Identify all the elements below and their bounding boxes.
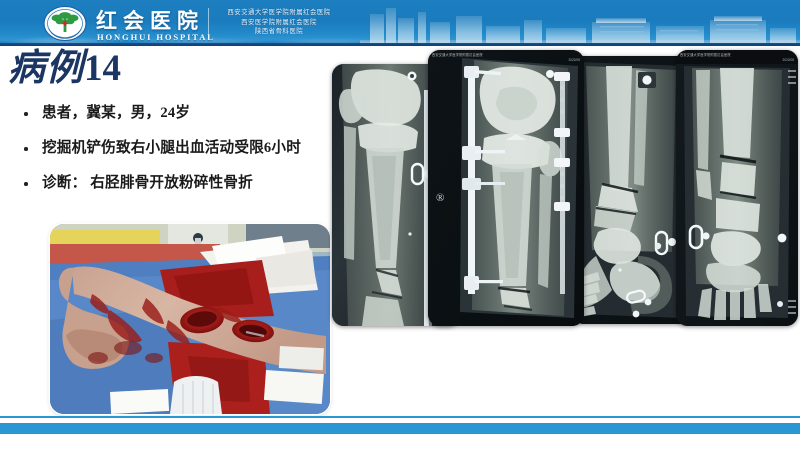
footer-bar bbox=[0, 423, 800, 434]
page-title: 病例14 bbox=[8, 48, 121, 90]
xray-label-2: 西安交通大学医学院附属红会医院 bbox=[432, 52, 580, 57]
xray-side-marker-r: ® bbox=[436, 192, 444, 204]
affiliation-line-3: 陕西省骨科医院 bbox=[219, 27, 339, 37]
hospital-skyline-watermark bbox=[360, 0, 800, 46]
brand-divider bbox=[208, 8, 209, 38]
footer-thin-line bbox=[0, 416, 800, 418]
xray-ankle-lateral bbox=[572, 56, 692, 324]
case-detail-list: 患者，冀某，男，24岁 挖掘机铲伤致右小腿出血活动受限6小时 诊断： 右胫腓骨开… bbox=[14, 104, 344, 209]
xray-ankle-ap: 西安交通大学医学院附属红会医院 2022/05 bbox=[676, 50, 798, 326]
xray-image-group: 西安交通大学医学院附属红会医院 2022/05 ® bbox=[332, 50, 798, 336]
list-item: 患者，冀某，男，24岁 bbox=[14, 104, 344, 123]
xray-date-2: 2022/05 bbox=[568, 58, 580, 62]
page-title-number: 14 bbox=[84, 48, 121, 89]
presentation-slide: 红会医院 HONGHUI HOSPITAL 西安交通大学医学院附属红会医院 西安… bbox=[0, 0, 800, 450]
xray-knee-tibia-external-fixator: 西安交通大学医学院附属红会医院 2022/05 ® bbox=[428, 50, 584, 326]
xray-label-4: 西安交通大学医学院附属红会医院 bbox=[680, 52, 794, 57]
hospital-affiliations: 西安交通大学医学院附属红会医院 西安医学院附属红会医院 陕西省骨科医院 bbox=[219, 8, 339, 37]
xray-date-4: 2022/05 bbox=[782, 58, 794, 62]
brand-name-en: HONGHUI HOSPITAL bbox=[97, 32, 215, 42]
hospital-emblem-icon bbox=[42, 5, 88, 42]
affiliation-line-2: 西安医学院附属红会医院 bbox=[219, 18, 339, 28]
list-item: 诊断： 右胫腓骨开放粉碎性骨折 bbox=[14, 174, 344, 193]
affiliation-line-1: 西安交通大学医学院附属红会医院 bbox=[219, 8, 339, 18]
brand-name-cn: 红会医院 bbox=[96, 10, 204, 32]
open-leg-injury-photo bbox=[50, 224, 330, 414]
header-bottom-accent-line bbox=[0, 43, 800, 46]
slide-header-banner: 红会医院 HONGHUI HOSPITAL 西安交通大学医学院附属红会医院 西安… bbox=[0, 0, 800, 46]
list-item: 挖掘机铲伤致右小腿出血活动受限6小时 bbox=[14, 139, 344, 158]
page-title-cn: 病例 bbox=[8, 48, 84, 89]
